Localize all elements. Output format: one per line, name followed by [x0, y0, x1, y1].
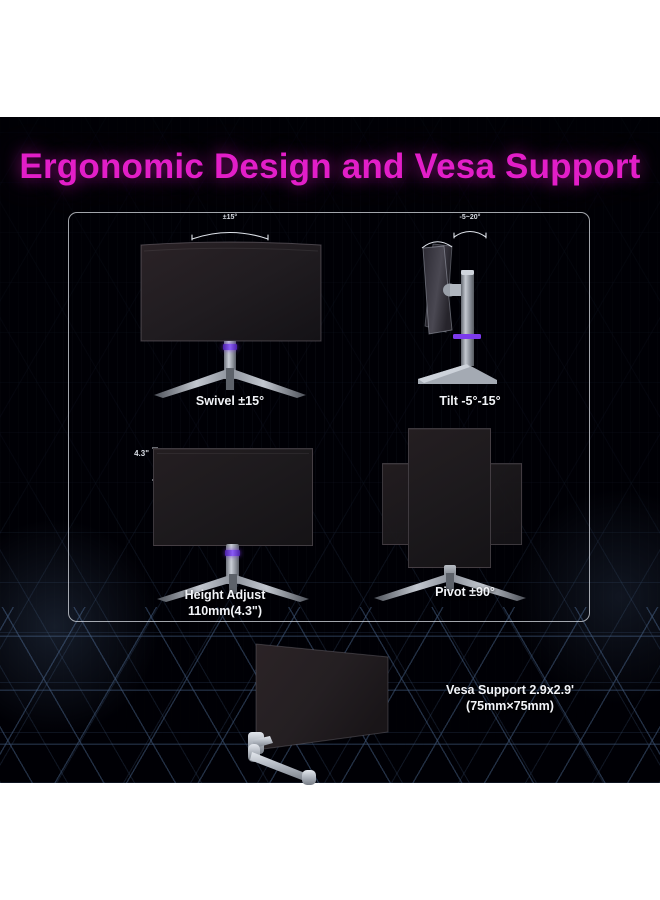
monitor-arm-icon	[240, 640, 420, 785]
feature-pivot: Pivot ±90°	[350, 425, 580, 620]
monitor-front-icon	[139, 239, 323, 343]
tilt-caption: Tilt -5°-15°	[370, 394, 570, 409]
height-measure-label: 4.3"	[115, 449, 149, 458]
swivel-caption: Swivel ±15°	[110, 394, 350, 409]
pivot-portrait-screen	[408, 428, 491, 568]
height-caption-line1: Height Adjust	[105, 588, 345, 603]
feature-swivel: ±15°	[110, 212, 350, 412]
swivel-monitor-screen	[139, 239, 323, 343]
swivel-purple-accent	[223, 344, 237, 350]
tilt-angle-label: -5~20°	[370, 214, 570, 221]
monitor-side-icon	[400, 234, 550, 386]
page-title: Ergonomic Design and Vesa Support	[0, 147, 660, 187]
infographic-page: Ergonomic Design and Vesa Support ±15°	[0, 0, 660, 900]
feature-height-adjust: 4.3" Height Adjust 110mm(4.3")	[105, 440, 345, 620]
height-purple-accent	[225, 550, 240, 556]
feature-tilt: -5~20°	[370, 212, 570, 412]
height-monitor-screen	[153, 448, 313, 546]
vesa-caption-line2: (75mm×75mm)	[400, 698, 620, 714]
swivel-angle-label: ±15°	[110, 214, 350, 221]
height-caption-line2: 110mm(4.3")	[105, 604, 345, 619]
vesa-caption-line1: Vesa Support 2.9x2.9'	[400, 682, 620, 698]
pivot-caption: Pivot ±90°	[350, 585, 580, 600]
screen-bezel-line	[157, 453, 309, 454]
feature-vesa: Vesa Support 2.9x2.9' (75mm×75mm)	[240, 640, 640, 785]
